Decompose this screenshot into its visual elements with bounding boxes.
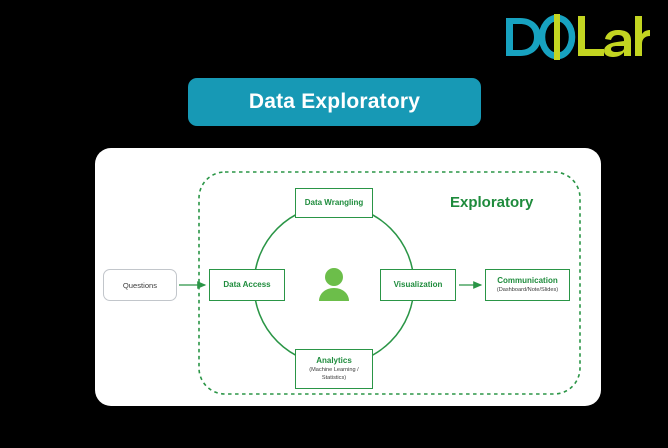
node-visualization-label: Visualization xyxy=(394,280,443,289)
data-exploratory-diagram: Questions Data Wrangling Data Access Vis… xyxy=(95,148,601,406)
exploratory-label: Exploratory xyxy=(450,194,533,211)
node-data-wrangling[interactable]: Data Wrangling xyxy=(295,188,373,218)
node-communication-label: Communication xyxy=(497,276,557,285)
dqlab-logo xyxy=(500,14,650,60)
node-analytics-subtitle-line2: Statistics) xyxy=(322,375,346,382)
node-data-access[interactable]: Data Access xyxy=(209,269,285,301)
node-questions-label: Questions xyxy=(123,281,157,290)
node-data-access-label: Data Access xyxy=(223,280,270,289)
node-analytics-label: Analytics xyxy=(316,356,352,365)
page-title: Data Exploratory xyxy=(249,90,420,114)
diagram-panel: Questions Data Wrangling Data Access Vis… xyxy=(95,148,601,406)
node-analytics[interactable]: Analytics (Machine Learning / Statistics… xyxy=(295,349,373,389)
node-data-wrangling-label: Data Wrangling xyxy=(305,198,364,207)
node-communication[interactable]: Communication (Dashboard/Note/Slides) xyxy=(485,269,570,301)
page-title-banner: Data Exploratory xyxy=(188,78,481,126)
user-icon xyxy=(317,267,351,303)
node-analytics-subtitle-line1: (Machine Learning / xyxy=(309,367,358,374)
node-visualization[interactable]: Visualization xyxy=(380,269,456,301)
node-communication-subtitle: (Dashboard/Note/Slides) xyxy=(497,287,558,294)
node-questions[interactable]: Questions xyxy=(103,269,177,301)
